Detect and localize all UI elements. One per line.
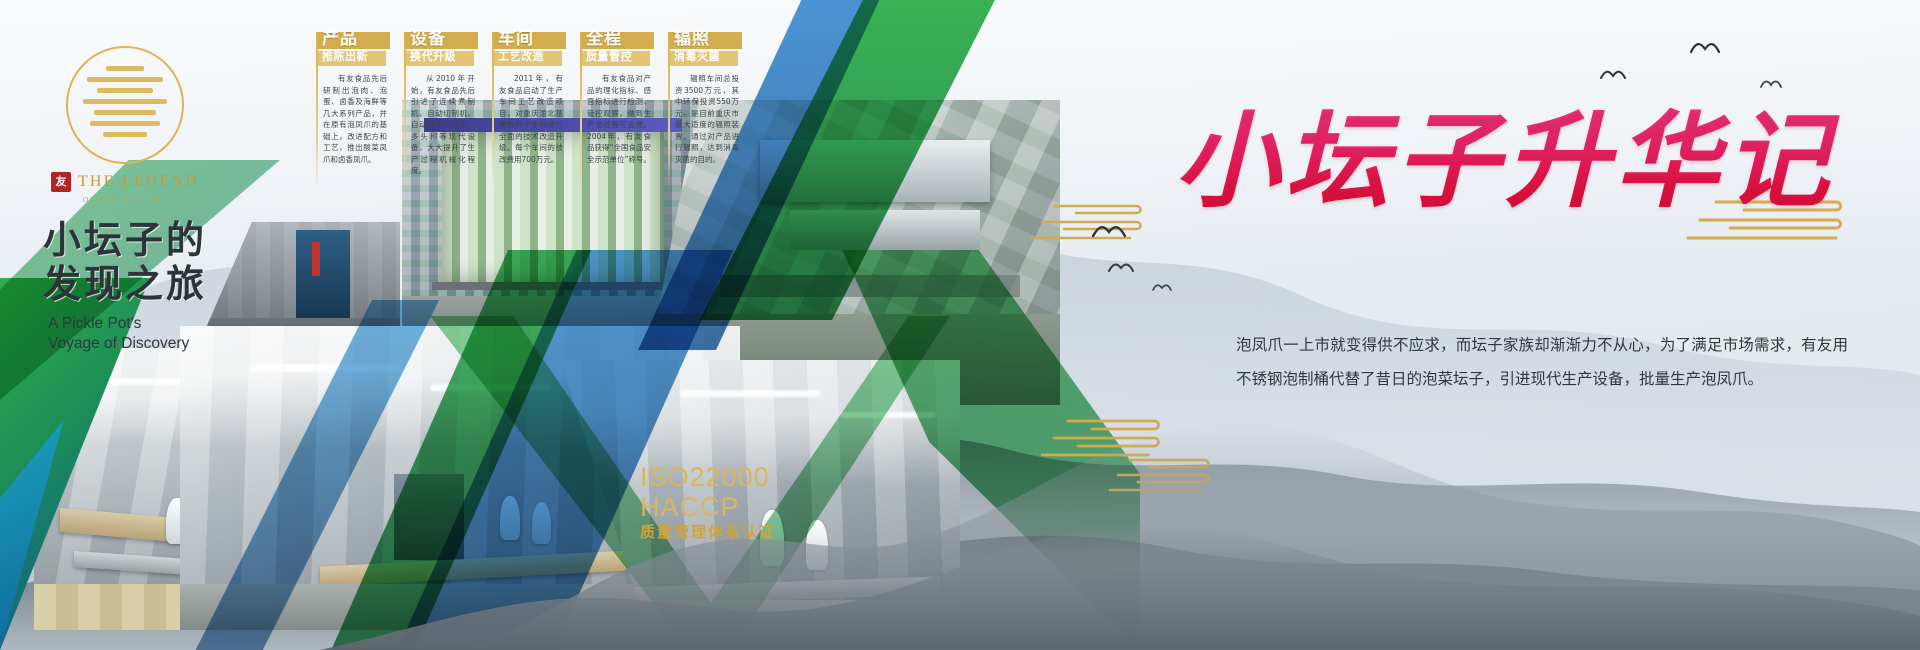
page-title-en-line1: A Pickle Pot's [48, 314, 250, 334]
bird-icon [1600, 68, 1626, 82]
card-subheading: 推陈出新 [322, 50, 390, 65]
card-heading: 辐照 [674, 30, 742, 48]
card-subheading: 工艺改造 [498, 50, 566, 65]
card-subheading: 质量管控 [586, 50, 654, 65]
card-subheading: 换代升级 [410, 50, 478, 65]
card-tab: 产品 推陈出新 [322, 30, 390, 65]
brand-lockup: 友 THE LEGEND OF A PICKLE POT 小坛子的 发现之旅 A… [0, 46, 250, 354]
card-body: 2011年，有友食品启动了生产车间工艺改造项目，对重庆渝北基地的四个车间进行全面… [499, 73, 563, 165]
card-heading: 产品 [322, 30, 390, 48]
certification-haccp: HACCP [640, 492, 776, 522]
page-title-en: A Pickle Pot's Voyage of Discovery [0, 314, 250, 354]
seal-bars [80, 66, 170, 146]
card-heading: 设备 [410, 30, 478, 48]
certification-caption: 质量管理体系认证 [640, 522, 776, 544]
pickle-jar-seal-icon [66, 46, 184, 164]
legend-sub-text: OF A PICKLE POT [0, 195, 250, 204]
legend-row: 友 THE LEGEND [0, 172, 250, 192]
card-subheading: 消毒灭菌 [674, 50, 742, 65]
page-title: 小坛子的 发现之旅 [0, 218, 250, 306]
page-title-line2: 发现之旅 [43, 262, 207, 306]
process-card-irradiation[interactable]: 辐照 消毒灭菌 辐照车间总投资3500万元，其中环保投资550万元，是目前重庆市… [668, 30, 742, 177]
bird-icon [1760, 78, 1782, 90]
card-body: 从2010年开始，有友食品先后引进了连续煮制机、自动切制机、自动真空包装机、多头… [411, 73, 475, 177]
card-heading: 全程 [586, 30, 654, 48]
process-card-product[interactable]: 产品 推陈出新 有友食品先后研制出泡肉、泡蛋、卤香及海鲜等几大系列产品，并在原有… [316, 30, 390, 177]
hero-paragraph: 泡凤爪一上市就变得供不应求，而坛子家族却渐渐力不从心，为了满足市场需求，有友用不… [1236, 328, 1848, 396]
poster-canvas: 产品 推陈出新 有友食品先后研制出泡肉、泡蛋、卤香及海鲜等几大系列产品，并在原有… [0, 0, 1920, 650]
card-heading: 车间 [498, 30, 566, 48]
process-card-equipment[interactable]: 设备 换代升级 从2010年开始，有友食品先后引进了连续煮制机、自动切制机、自动… [404, 30, 478, 177]
card-tab: 辐照 消毒灭菌 [674, 30, 742, 65]
card-body: 有友食品对产品的理化指标、感官指标进行检测、管控观察，做到生产全过程可追溯。20… [587, 73, 651, 165]
page-title-line1: 小坛子的 [43, 218, 207, 262]
process-card-list: 产品 推陈出新 有友食品先后研制出泡肉、泡蛋、卤香及海鲜等几大系列产品，并在原有… [316, 30, 742, 177]
bird-icon [1108, 260, 1134, 274]
process-card-quality[interactable]: 全程 质量管控 有友食品对产品的理化指标、感官指标进行检测、管控观察，做到生产全… [580, 30, 654, 177]
hero-calligraphy-title: 小坛子升华记 [1175, 96, 1865, 226]
bird-icon [1092, 222, 1126, 240]
card-body: 辐照车间总投资3500万元，其中环保投资550万元，是目前重庆市最大适度的辐照装… [675, 73, 739, 165]
card-body: 有友食品先后研制出泡肉、泡蛋、卤香及海鲜等几大系列产品，并在原有泡凤爪的基础上，… [323, 73, 387, 165]
page-title-en-line2: Voyage of Discovery [48, 334, 250, 354]
bird-icon [1690, 40, 1720, 56]
process-card-workshop[interactable]: 车间 工艺改造 2011年，有友食品启动了生产车间工艺改造项目，对重庆渝北基地的… [492, 30, 566, 177]
cloud-ornament-icon [1108, 452, 1218, 498]
card-tab: 全程 质量管控 [586, 30, 654, 65]
red-chop-icon: 友 [51, 172, 71, 192]
legend-en-text: THE LEGEND [78, 173, 199, 191]
certification-iso: ISO22000 [640, 462, 776, 492]
certification-block: ISO22000 HACCP 质量管理体系认证 [640, 462, 776, 544]
card-tab: 设备 换代升级 [410, 30, 478, 65]
cloud-ornament-icon [1030, 198, 1150, 246]
bird-icon [1152, 282, 1172, 293]
card-tab: 车间 工艺改造 [498, 30, 566, 65]
hero-title-text: 小坛子升华记 [1175, 96, 1865, 226]
